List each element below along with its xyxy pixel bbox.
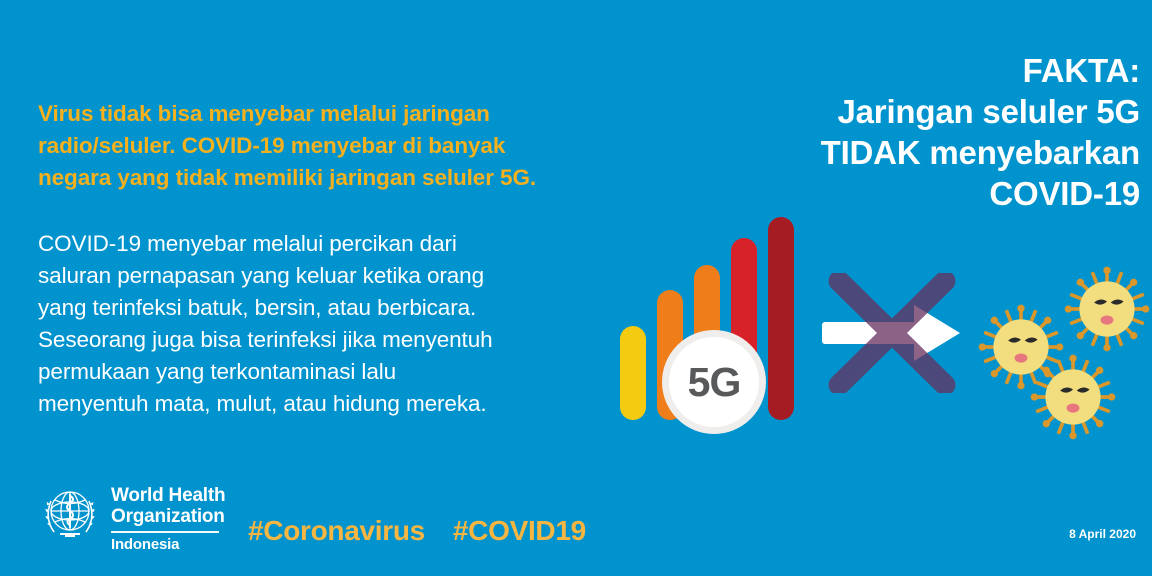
signal-strength-graphic: 5G [612,225,807,430]
body-line-4: Seseorang juga bisa terinfeksi jika meny… [38,324,618,356]
who-emblem-icon [38,482,102,546]
headline-line-4: COVID-19 [700,173,1140,214]
signal-bar-5 [768,217,794,420]
five-g-badge: 5G [662,330,766,434]
headline-line-3: TIDAK menyebarkan [700,132,1140,173]
signal-bar-1 [620,326,646,420]
body-line-2: saluran pernapasan yang keluar ketika or… [38,260,618,292]
body-line-5: permukaan yang terkontaminasi lalu [38,356,618,388]
page-title: FAKTA: Jaringan seluler 5G TIDAK menyeba… [700,50,1140,214]
body-paragraph: COVID-19 menyebar melalui percikan dari … [38,228,618,420]
poster-canvas: FAKTA: Jaringan seluler 5G TIDAK menyeba… [0,0,1152,576]
who-logo: World Health Organization Indonesia [38,482,225,553]
who-word-line-2: Organization [111,506,225,527]
blocked-transmission-graphic [822,273,972,393]
body-line-3: yang terinfeksi batuk, bersin, atau berb… [38,292,618,324]
hashtag-covid19: #COVID19 [453,514,586,548]
arrow-cross-svg [822,273,972,393]
virus-cluster [975,263,1150,428]
body-line-6: menyentuh mata, mulut, atau hidung merek… [38,388,618,420]
hashtag-coronavirus: #Coronavirus [248,514,425,548]
who-wordmark: World Health Organization Indonesia [111,482,225,553]
lead-line-3: negara yang tidak memiliki jaringan selu… [38,162,598,194]
lead-line-2: radio/seluler. COVID-19 menyebar di bany… [38,130,598,162]
headline-line-1: FAKTA: [700,50,1140,91]
who-divider [111,531,219,533]
five-g-label: 5G [688,362,741,403]
body-line-1: COVID-19 menyebar melalui percikan dari [38,228,618,260]
virus-particle-icon [1061,263,1152,355]
who-word-line-1: World Health [111,485,225,506]
headline-line-2: Jaringan seluler 5G [700,91,1140,132]
date-stamp: 8 April 2020 [1069,527,1136,541]
who-country-label: Indonesia [111,536,225,553]
lead-paragraph: Virus tidak bisa menyebar melalui jaring… [38,98,598,194]
hashtag-group: #Coronavirus #COVID19 [248,514,586,548]
virus-particle-icon [1027,351,1119,443]
lead-line-1: Virus tidak bisa menyebar melalui jaring… [38,98,598,130]
illustration: 5G [600,225,1152,460]
